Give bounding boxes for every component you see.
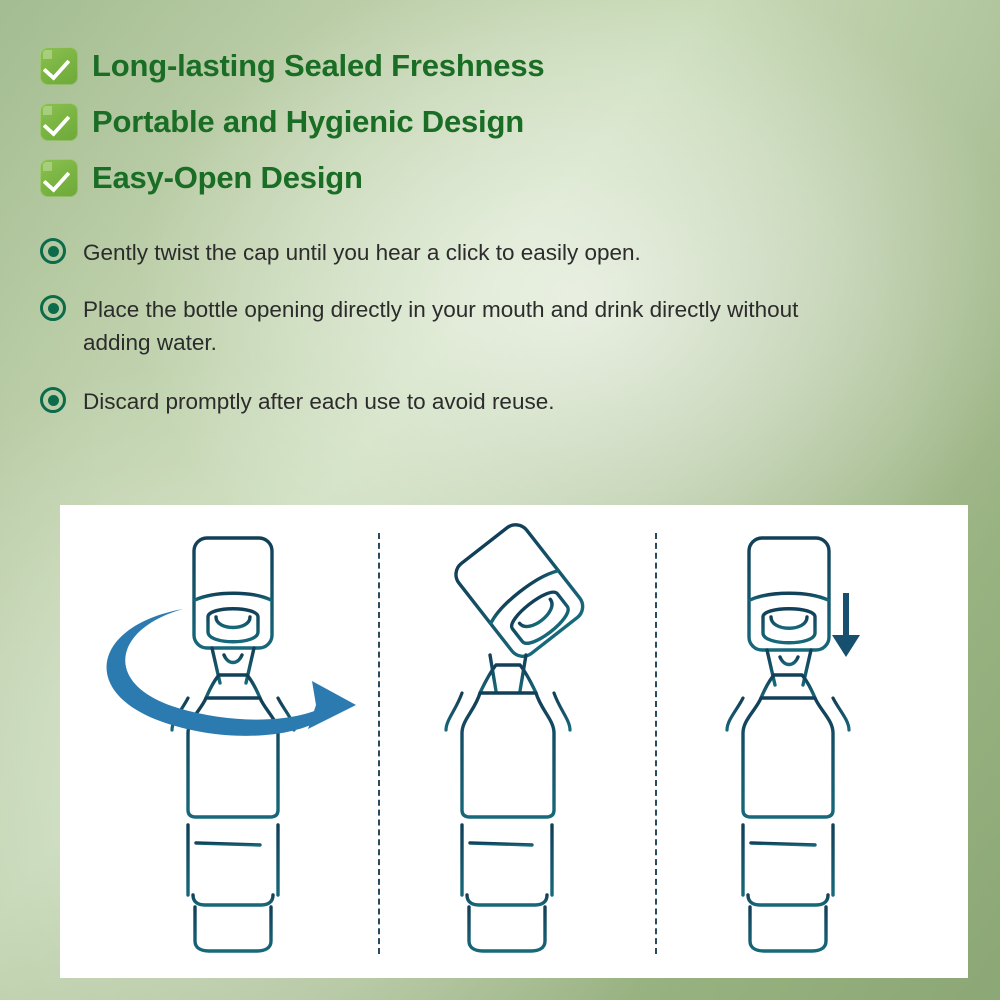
illustration-panel [60, 505, 968, 978]
twist-cap-step [60, 505, 378, 978]
feature-heading-label: Easy-Open Design [92, 160, 363, 196]
instruction-text: Gently twist the cap until you hear a cl… [83, 236, 641, 269]
check-badge-icon [40, 159, 78, 197]
feature-heading-item: Long-lasting Sealed Freshness [40, 44, 760, 88]
feature-heading-label: Long-lasting Sealed Freshness [92, 48, 544, 84]
instruction-item: Place the bottle opening directly in you… [40, 293, 840, 359]
instruction-text: Place the bottle opening directly in you… [83, 293, 813, 359]
check-badge-icon [40, 103, 78, 141]
bottle-twist-arrow-icon [60, 505, 378, 978]
down-arrow-icon [832, 593, 860, 657]
radio-dot-icon [40, 295, 66, 321]
press-cap-step [657, 505, 968, 978]
instruction-item: Gently twist the cap until you hear a cl… [40, 236, 840, 269]
feature-heading-list: Long-lasting Sealed Freshness Portable a… [40, 44, 760, 212]
instruction-item: Discard promptly after each use to avoid… [40, 385, 840, 418]
remove-cap-step [380, 505, 655, 978]
feature-heading-label: Portable and Hygienic Design [92, 104, 524, 140]
instruction-list: Gently twist the cap until you hear a cl… [40, 236, 840, 442]
radio-dot-icon [40, 238, 66, 264]
feature-heading-item: Portable and Hygienic Design [40, 100, 760, 144]
instruction-text: Discard promptly after each use to avoid… [83, 385, 554, 418]
bottle-cap-down-arrow-icon [657, 505, 968, 978]
bottle-cap-removed-icon [380, 505, 655, 978]
feature-heading-item: Easy-Open Design [40, 156, 760, 200]
check-badge-icon [40, 47, 78, 85]
radio-dot-icon [40, 387, 66, 413]
